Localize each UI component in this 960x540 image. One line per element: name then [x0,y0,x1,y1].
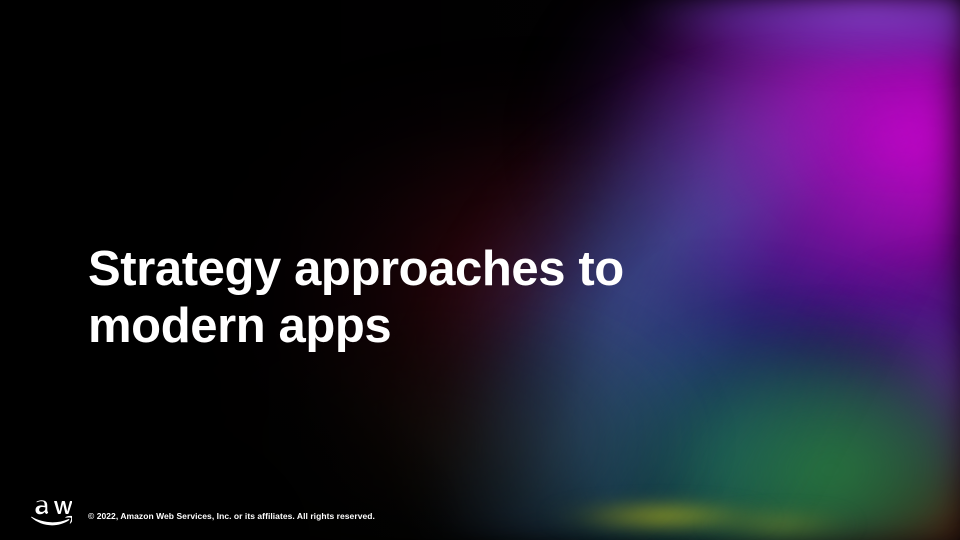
aws-logo-icon [30,498,72,526]
copyright-text: © 2022, Amazon Web Services, Inc. or its… [88,511,375,521]
slide-title: Strategy approaches to modern apps [88,241,688,355]
slide-canvas: Strategy approaches to modern apps [0,0,960,540]
slide-footer: © 2022, Amazon Web Services, Inc. or its… [0,480,960,540]
